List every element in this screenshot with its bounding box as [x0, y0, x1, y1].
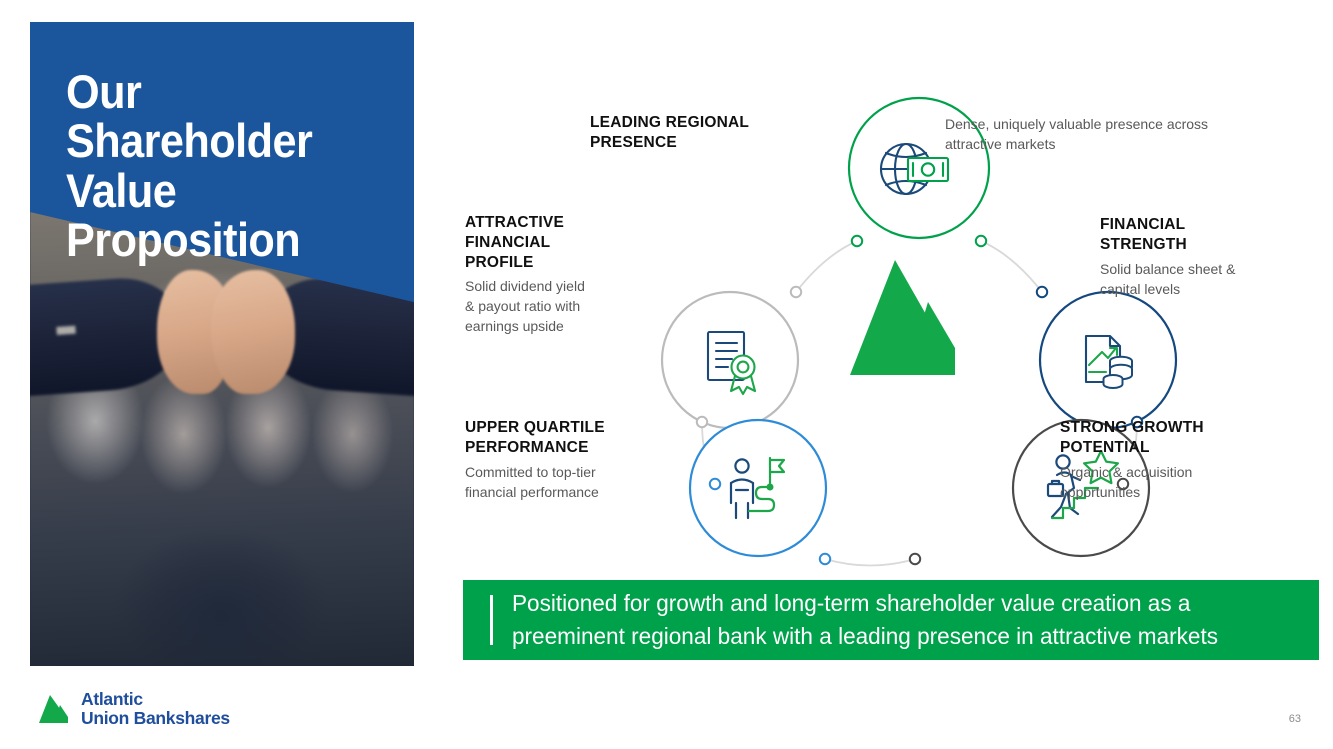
- cuff-buttons: [56, 326, 75, 335]
- node-title-upper-quartile-performance: UPPER QUARTILE PERFORMANCE: [465, 418, 665, 458]
- title-panel: Our Shareholder Value Proposition: [30, 22, 414, 666]
- node-text-financial-strength: FINANCIAL STRENGTH Solid balance sheet &…: [1100, 215, 1315, 299]
- summary-banner: Positioned for growth and long-term shar…: [463, 580, 1319, 660]
- atlantic-union-a-mark-footer: [38, 693, 72, 725]
- banner-text: Positioned for growth and long-term shar…: [512, 587, 1218, 654]
- node-circle-financial-strength[interactable]: [1037, 287, 1176, 428]
- node-desc-leading-regional-presence: Dense, uniquely valuable presence across…: [945, 115, 1255, 155]
- node-desc-attractive-financial-profile: Solid dividend yield & payout ratio with…: [465, 277, 630, 337]
- node-text-leading-regional-presence: LEADING REGIONAL PRESENCE: [590, 113, 800, 153]
- hand-right: [211, 270, 295, 394]
- handshake-figure: [30, 267, 414, 434]
- banner-accent-bar: [490, 595, 493, 645]
- footer-wordmark: Atlantic Union Bankshares: [81, 690, 230, 729]
- node-text-upper-quartile-performance: UPPER QUARTILE PERFORMANCE Committed to …: [465, 418, 665, 502]
- node-title-leading-regional-presence: LEADING REGIONAL PRESENCE: [590, 113, 800, 153]
- node-circle-upper-quartile-performance[interactable]: [690, 420, 830, 564]
- page-number: 63: [1289, 713, 1301, 725]
- node-desc-financial-strength: Solid balance sheet & capital levels: [1100, 260, 1315, 300]
- node-title-financial-strength: FINANCIAL STRENGTH: [1100, 215, 1315, 255]
- atlantic-union-a-mark: [850, 260, 955, 375]
- node-desc-strong-growth-potential: Organic & acquisition opportunities: [1060, 463, 1275, 503]
- node-text-strong-growth-potential: STRONG GROWTH POTENTIAL Organic & acquis…: [1060, 418, 1275, 502]
- node-desc-upper-quartile-performance: Committed to top-tier financial performa…: [465, 463, 665, 503]
- node-circle-attractive-financial-profile[interactable]: [662, 287, 801, 428]
- page-title: Our Shareholder Value Proposition: [66, 67, 370, 264]
- footer-logo: Atlantic Union Bankshares: [38, 690, 230, 729]
- node-desc-text-leading-regional-presence: Dense, uniquely valuable presence across…: [945, 115, 1255, 155]
- shareholder-value-diagram: .ring { fill:#ffffff; stroke-width:2.2; …: [440, 70, 1320, 570]
- node-text-attractive-financial-profile: ATTRACTIVE FINANCIAL PROFILE Solid divid…: [465, 213, 630, 337]
- node-title-strong-growth-potential: STRONG GROWTH POTENTIAL: [1060, 418, 1275, 458]
- node-title-attractive-financial-profile: ATTRACTIVE FINANCIAL PROFILE: [465, 213, 630, 272]
